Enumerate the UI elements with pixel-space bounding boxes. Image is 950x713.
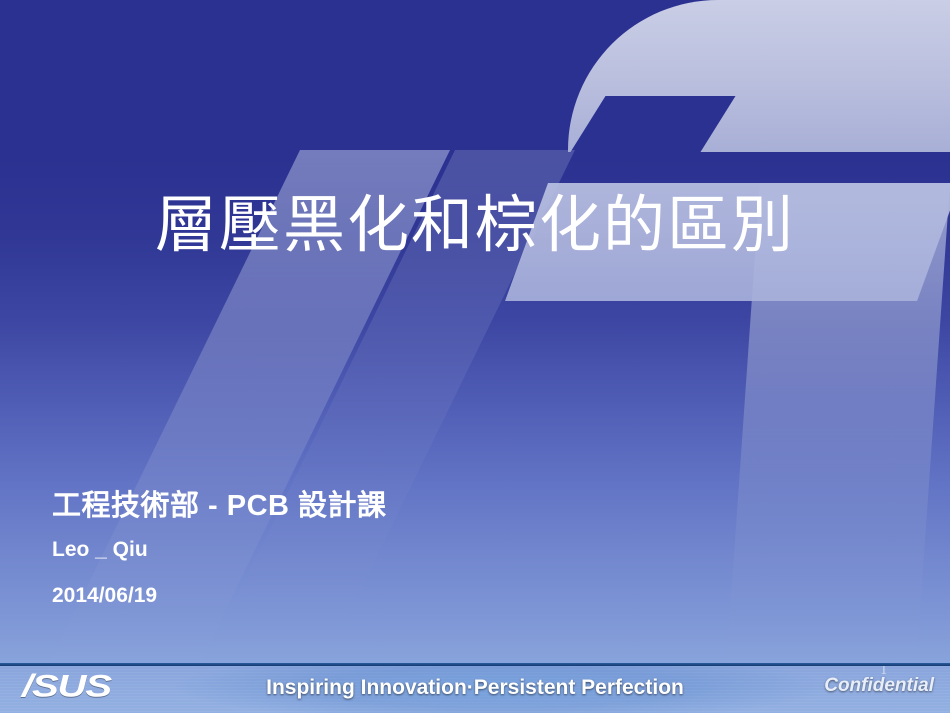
author-label: Leo _ Qiu <box>52 538 387 562</box>
watermark-top-bar <box>568 0 950 152</box>
footer-bar: /SUS Inspiring Innovation·Persistent Per… <box>0 663 950 713</box>
byline-block: 工程技術部 - PCB 設計課 Leo _ Qiu 2014/06/19 <box>52 482 387 608</box>
confidential-label: Confidential <box>824 675 934 697</box>
company-tagline: Inspiring Innovation·Persistent Perfecti… <box>0 663 950 713</box>
organization-label: 工程技術部 - PCB 設計課 <box>52 482 387 524</box>
presentation-slide: 層壓黑化和棕化的區別 工程技術部 - PCB 設計課 Leo _ Qiu 201… <box>0 0 950 713</box>
slide-title: 層壓黑化和棕化的區別 <box>0 191 950 259</box>
date-label: 2014/06/19 <box>52 584 387 608</box>
watermark-top-bar-cut <box>568 96 735 156</box>
